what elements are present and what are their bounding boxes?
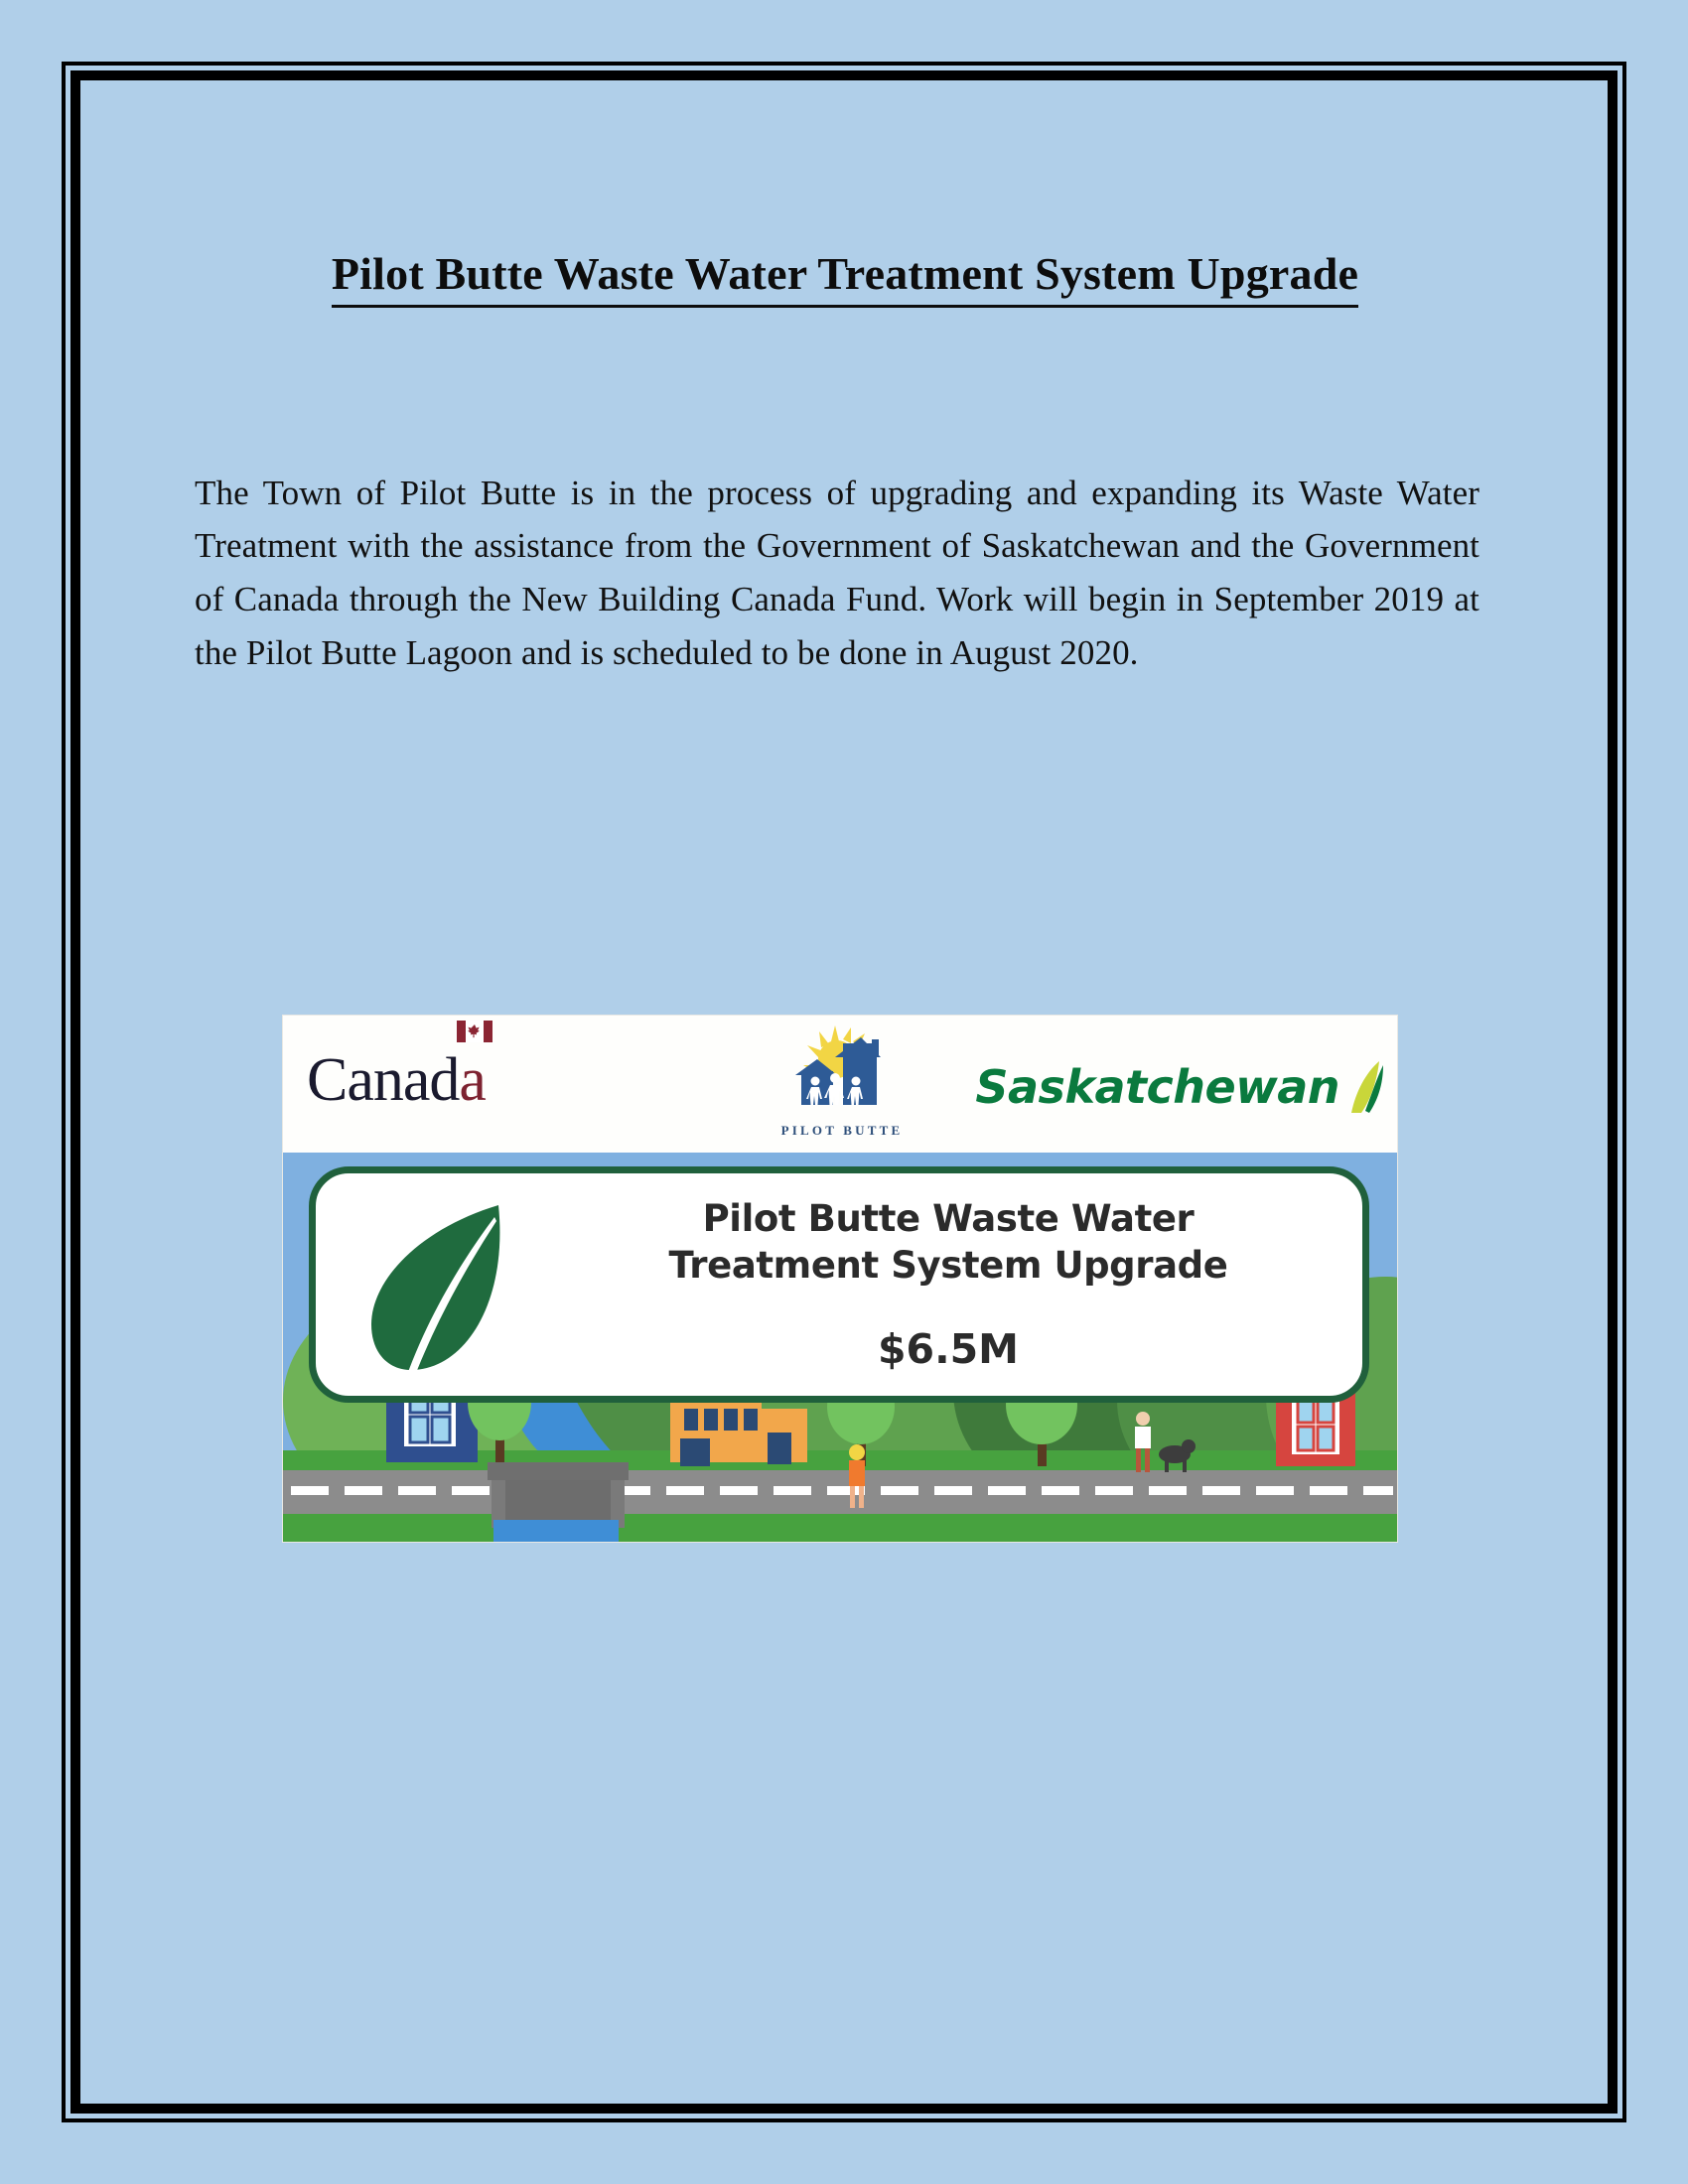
saskatchewan-wordmark-text: Saskatchewan xyxy=(975,1064,1339,1110)
leaf-icon-wrap xyxy=(359,1195,526,1390)
canada-wordmark: Canada xyxy=(307,1049,486,1111)
saskatchewan-wordmark: Saskatchewan xyxy=(975,1059,1387,1115)
canada-wordmark-text: Canad xyxy=(307,1046,459,1114)
body-paragraph: The Town of Pilot Butte is in the proces… xyxy=(195,308,1495,679)
canada-flag-icon xyxy=(457,1021,492,1042)
document-page: Pilot Butte Waste Water Treatment System… xyxy=(0,0,1688,2184)
document-content: Pilot Butte Waste Water Treatment System… xyxy=(195,129,1495,679)
page-title-text: Pilot Butte Waste Water Treatment System… xyxy=(332,248,1358,308)
green-leaf-icon xyxy=(359,1195,526,1390)
sign-title-line-1: Pilot Butte Waste Water xyxy=(564,1195,1333,1242)
saskatchewan-leaf-mark-icon xyxy=(1345,1059,1387,1115)
sign-text-block: Pilot Butte Waste Water Treatment System… xyxy=(564,1195,1333,1373)
sign-amount: $6.5M xyxy=(564,1325,1333,1373)
pilot-butte-logo: PILOT BUTTE xyxy=(777,1024,907,1147)
logo-band: Canada xyxy=(283,1016,1397,1153)
page-title: Pilot Butte Waste Water Treatment System… xyxy=(195,129,1495,308)
pilot-butte-houses-sun-icon xyxy=(777,1024,907,1127)
illustrated-scene: Pilot Butte Waste Water Treatment System… xyxy=(283,1153,1397,1542)
project-sign-board: Pilot Butte Waste Water Treatment System… xyxy=(309,1166,1369,1403)
canada-wordmark-accent-letter: a xyxy=(459,1046,486,1114)
project-sign-photo: Canada xyxy=(283,1016,1397,1542)
sign-title-line-2: Treatment System Upgrade xyxy=(564,1242,1333,1289)
pilot-butte-caption: PILOT BUTTE xyxy=(777,1123,907,1139)
